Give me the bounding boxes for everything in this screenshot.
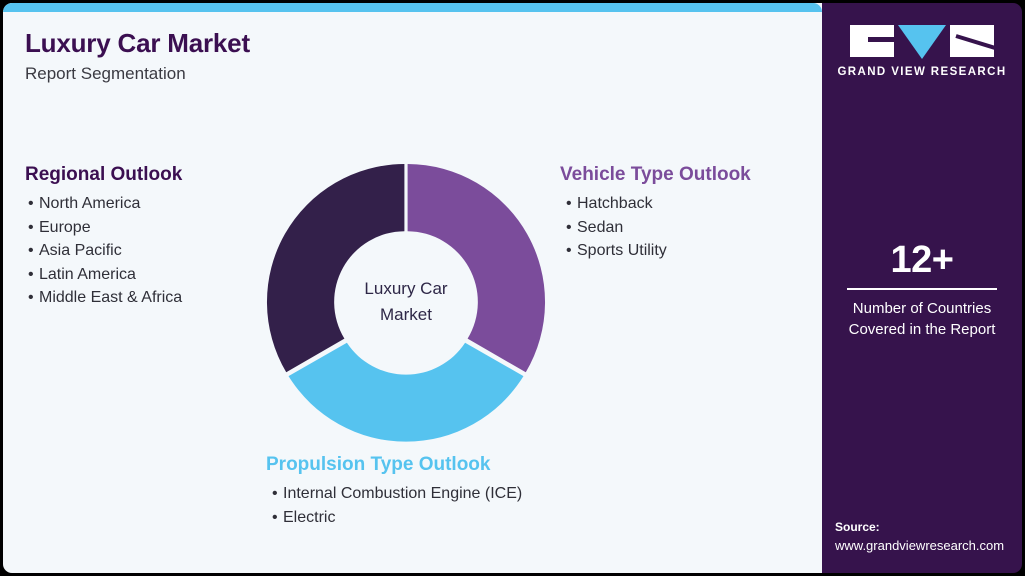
logo-r-icon xyxy=(950,25,994,57)
list-item-label: Internal Combustion Engine (ICE) xyxy=(283,485,522,502)
list-item: •Middle East & Africa xyxy=(25,286,182,310)
title-block: Luxury Car Market Report Segmentation xyxy=(25,27,625,85)
logo-wordmark: GRAND VIEW RESEARCH xyxy=(822,66,1022,78)
list-item-label: Sports Utility xyxy=(577,242,667,259)
donut-slice-vehicle-type xyxy=(408,164,545,372)
page-subtitle: Report Segmentation xyxy=(25,63,625,85)
bullet-icon: • xyxy=(566,216,577,240)
list-item-label: Latin America xyxy=(39,266,136,283)
segmentation-donut-chart: Luxury Car Market xyxy=(264,160,548,444)
source-url[interactable]: www.grandviewresearch.com xyxy=(835,536,1021,555)
logo-marks xyxy=(822,25,1022,57)
top-accent-bar xyxy=(3,3,822,12)
list-item: •Electric xyxy=(266,506,522,530)
donut-svg xyxy=(264,160,548,444)
stat-block: 12+ Number of Countries Covered in the R… xyxy=(822,239,1022,340)
bullet-icon: • xyxy=(28,216,39,240)
bullet-icon: • xyxy=(566,192,577,216)
list-item-label: Hatchback xyxy=(577,195,653,212)
list-item-label: Middle East & Africa xyxy=(39,289,182,306)
propulsion-type-outlook-heading: Propulsion Type Outlook xyxy=(266,453,522,477)
stat-divider xyxy=(847,288,997,290)
page-title: Luxury Car Market xyxy=(25,27,625,59)
stat-value: 12+ xyxy=(822,239,1022,281)
list-item-label: Asia Pacific xyxy=(39,242,122,259)
propulsion-type-outlook-list: •Internal Combustion Engine (ICE) •Elect… xyxy=(266,482,522,529)
stat-label-line-1: Number of Countries xyxy=(822,298,1022,319)
bullet-icon: • xyxy=(272,482,283,506)
vehicle-type-outlook-list: •Hatchback •Sedan •Sports Utility xyxy=(560,192,751,263)
bullet-icon: • xyxy=(28,239,39,263)
propulsion-type-outlook-group: Propulsion Type Outlook •Internal Combus… xyxy=(266,453,522,529)
list-item: •Sports Utility xyxy=(560,239,751,263)
company-logo: GRAND VIEW RESEARCH xyxy=(822,25,1022,78)
vehicle-type-outlook-heading: Vehicle Type Outlook xyxy=(560,163,751,187)
list-item: •Hatchback xyxy=(560,192,751,216)
content-panel: Luxury Car Market Report Segmentation Re… xyxy=(3,3,822,573)
list-item: •North America xyxy=(25,192,182,216)
bullet-icon: • xyxy=(566,239,577,263)
list-item-label: Electric xyxy=(283,509,335,526)
list-item: •Asia Pacific xyxy=(25,239,182,263)
logo-g-icon xyxy=(850,25,894,57)
list-item: •Sedan xyxy=(560,216,751,240)
regional-outlook-group: Regional Outlook •North America •Europe … xyxy=(25,163,182,310)
list-item: •Latin America xyxy=(25,263,182,287)
list-item-label: Sedan xyxy=(577,219,623,236)
source-title: Source: xyxy=(835,519,1021,536)
regional-outlook-heading: Regional Outlook xyxy=(25,163,182,187)
list-item-label: Europe xyxy=(39,219,91,236)
regional-outlook-list: •North America •Europe •Asia Pacific •La… xyxy=(25,192,182,310)
source-block: Source: www.grandviewresearch.com xyxy=(835,519,1021,555)
infographic-canvas: Luxury Car Market Report Segmentation Re… xyxy=(0,0,1025,576)
bullet-icon: • xyxy=(272,506,283,530)
bullet-icon: • xyxy=(28,263,39,287)
donut-slice-propulsion-type xyxy=(289,343,524,442)
donut-slice-regional xyxy=(267,164,404,372)
logo-v-triangle-icon xyxy=(898,25,946,59)
vehicle-type-outlook-group: Vehicle Type Outlook •Hatchback •Sedan •… xyxy=(560,163,751,263)
bullet-icon: • xyxy=(28,192,39,216)
brand-sidebar: GRAND VIEW RESEARCH 12+ Number of Countr… xyxy=(822,3,1022,573)
list-item-label: North America xyxy=(39,195,140,212)
list-item: •Europe xyxy=(25,216,182,240)
stat-label-line-2: Covered in the Report xyxy=(822,319,1022,340)
bullet-icon: • xyxy=(28,286,39,310)
list-item: •Internal Combustion Engine (ICE) xyxy=(266,482,522,506)
